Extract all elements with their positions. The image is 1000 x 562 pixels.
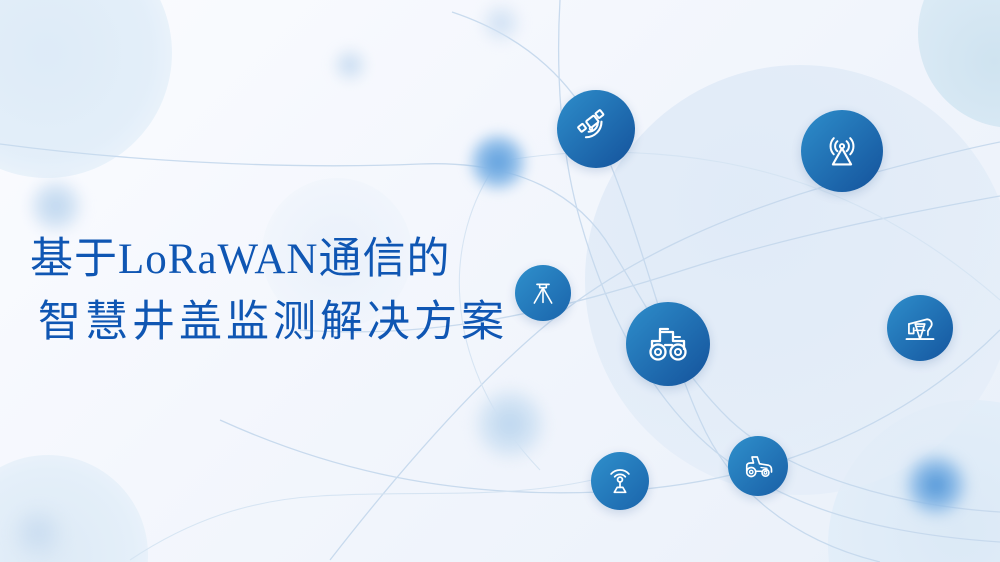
glow-dot-top xyxy=(330,45,370,85)
bottom-right-blob xyxy=(828,400,1000,562)
tractor-icon xyxy=(644,320,692,368)
node-oil-pump[interactable] xyxy=(887,295,953,361)
glow-dot-bottom-right xyxy=(903,452,969,518)
node-antenna-tower[interactable] xyxy=(801,110,883,192)
node-harvester[interactable] xyxy=(728,436,788,496)
glow-dot-left xyxy=(28,178,84,234)
center-globe xyxy=(585,65,1000,495)
node-satellite[interactable] xyxy=(557,90,635,168)
glow-dot-lower-center xyxy=(472,386,548,462)
satellite-dish-icon xyxy=(574,107,618,151)
node-survey-tripod[interactable] xyxy=(515,265,571,321)
survey-tripod-icon xyxy=(527,277,559,309)
radio-tower-icon xyxy=(819,128,865,174)
node-wireless-sensor[interactable] xyxy=(591,452,649,510)
top-right-blob xyxy=(918,0,1000,128)
title-line-1: 基于LoRaWAN通信的 xyxy=(30,228,550,291)
top-left-blob xyxy=(0,0,172,178)
node-tractor[interactable] xyxy=(626,302,710,386)
glow-dot-center xyxy=(466,130,530,194)
glow-dot-top-center xyxy=(478,0,524,46)
oil-pumpjack-icon xyxy=(901,309,939,347)
presentation-title-slide: 基于LoRaWAN通信的 智慧井盖监测解决方案 xyxy=(0,0,1000,562)
glow-dot-bottom-left xyxy=(10,505,66,561)
wireless-sensor-icon xyxy=(603,464,637,498)
bottom-left-blob xyxy=(0,455,148,562)
harvester-vehicle-icon xyxy=(740,448,776,484)
slide-title: 基于LoRaWAN通信的 智慧井盖监测解决方案 xyxy=(30,228,550,354)
title-line-2: 智慧井盖监测解决方案 xyxy=(30,291,550,354)
